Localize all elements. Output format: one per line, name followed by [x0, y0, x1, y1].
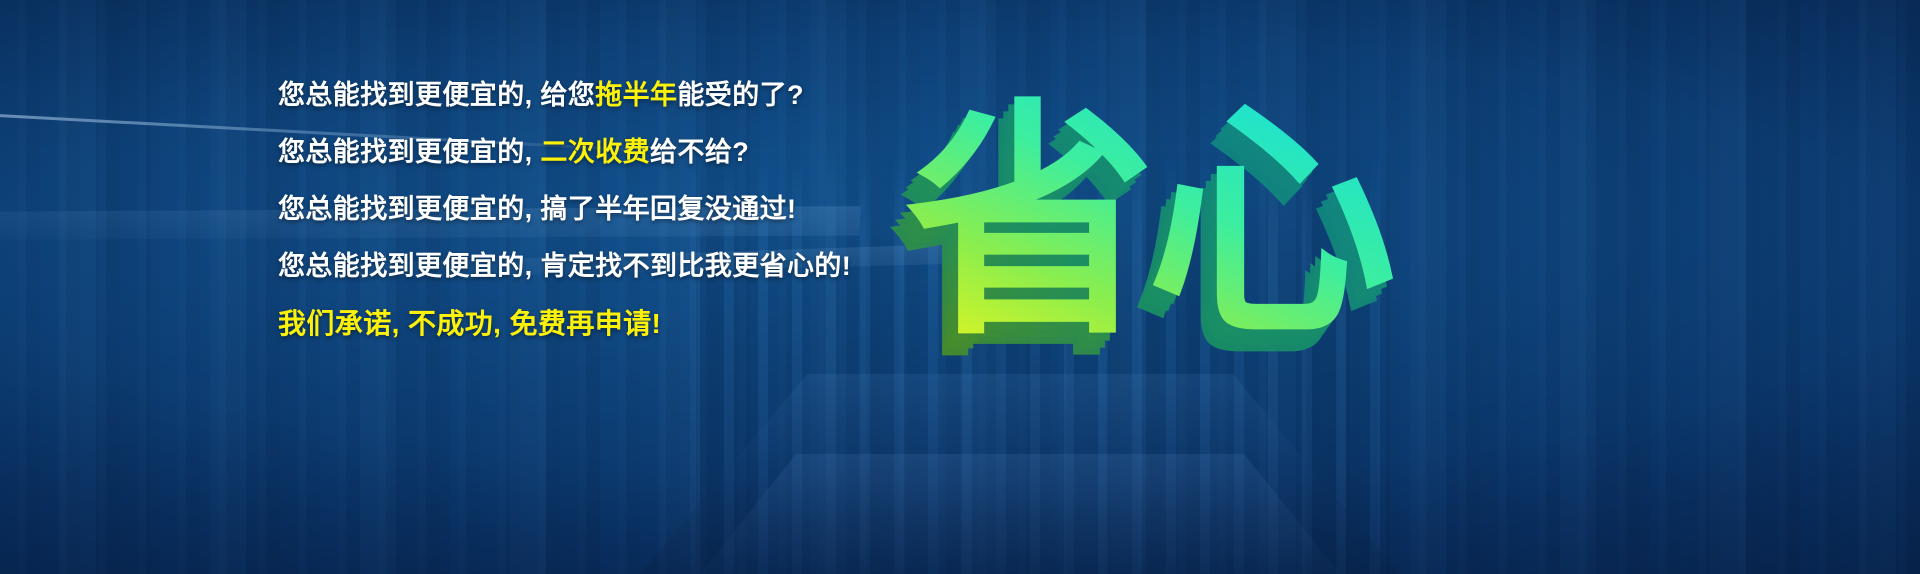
promo-banner: 您总能找到更便宜的, 给您拖半年能受的了?您总能找到更便宜的, 二次收费给不给?… — [0, 0, 1920, 574]
copy-line-5-part-1: 我们承诺, 不成功, 免费再申请! — [278, 308, 661, 339]
copy-line-3: 您总能找到更便宜的, 搞了半年回复没通过! — [278, 196, 918, 223]
copy-line-5: 我们承诺, 不成功, 免费再申请! — [278, 310, 918, 338]
copy-line-3-part-1: 您总能找到更便宜的, 搞了半年回复没通过! — [278, 194, 796, 224]
copy-line-1: 您总能找到更便宜的, 给您拖半年能受的了? — [278, 82, 918, 109]
copy-line-4: 您总能找到更便宜的, 肯定找不到比我更省心的! — [278, 253, 918, 280]
sheng-xin-3d-logo: 省心 省心 省心 省心 — [905, 60, 1375, 390]
copy-line-2: 您总能找到更便宜的, 二次收费给不给? — [278, 139, 918, 166]
copy-line-1-part-1: 您总能找到更便宜的, 给您 — [278, 80, 595, 110]
copy-line-1-part-3: 能受的了? — [677, 80, 804, 110]
copy-line-1-part-2: 拖半年 — [595, 80, 677, 110]
copy-line-2-part-3: 给不给? — [650, 137, 749, 167]
svg-text:省心: 省心 — [905, 78, 1393, 369]
copy-line-4-part-1: 您总能找到更便宜的, 肯定找不到比我更省心的! — [278, 251, 851, 281]
marketing-copy-block: 您总能找到更便宜的, 给您拖半年能受的了?您总能找到更便宜的, 二次收费给不给?… — [278, 82, 918, 338]
copy-line-2-part-1: 您总能找到更便宜的, — [278, 137, 540, 167]
copy-line-2-part-2: 二次收费 — [540, 137, 650, 167]
